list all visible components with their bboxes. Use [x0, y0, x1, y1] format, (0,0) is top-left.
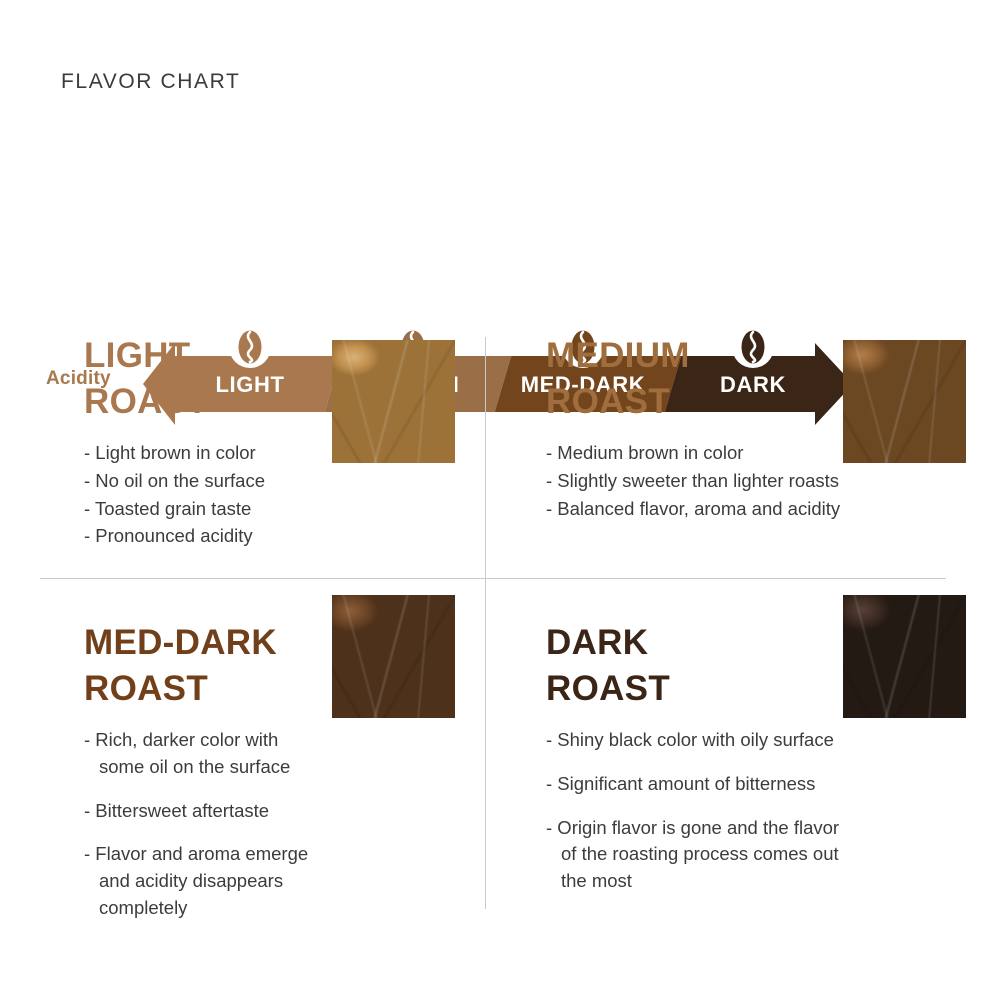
roast-photo-meddark [332, 595, 455, 718]
list-item: - Bittersweet aftertaste [84, 798, 474, 825]
list-item: - Significant amount of bitterness [546, 771, 946, 798]
bean-crack-overlay [332, 340, 455, 463]
list-item: - Slightly sweeter than lighter roasts [546, 468, 946, 495]
roast-photo-dark [843, 595, 966, 718]
list-item: - Toasted grain taste [84, 496, 474, 523]
flavor-scale: Acidity Bitterness LIGHT MEDIUM [0, 160, 1001, 275]
quadrant-divider-horizontal [40, 578, 946, 579]
list-item: - Rich, darker color with some oil on th… [84, 727, 474, 781]
list-item: - Origin flavor is gone and the flavor o… [546, 815, 946, 895]
list-item: - No oil on the surface [84, 468, 474, 495]
list-item: - Flavor and aroma emerge and acidity di… [84, 841, 474, 921]
quadrant-divider-vertical [485, 337, 486, 909]
list-item: - Shiny black color with oily surface [546, 727, 946, 754]
roast-bullets-meddark: - Rich, darker color with some oil on th… [84, 727, 474, 922]
page-title: FLAVOR CHART [61, 70, 240, 94]
roast-bullets-dark: - Shiny black color with oily surface - … [546, 727, 946, 895]
list-item: - Pronounced acidity [84, 523, 474, 550]
roast-photo-light [332, 340, 455, 463]
list-item: - Balanced flavor, aroma and acidity [546, 496, 946, 523]
roast-photo-medium [843, 340, 966, 463]
bean-crack-overlay [843, 340, 966, 463]
bean-crack-overlay [843, 595, 966, 718]
bean-crack-overlay [332, 595, 455, 718]
